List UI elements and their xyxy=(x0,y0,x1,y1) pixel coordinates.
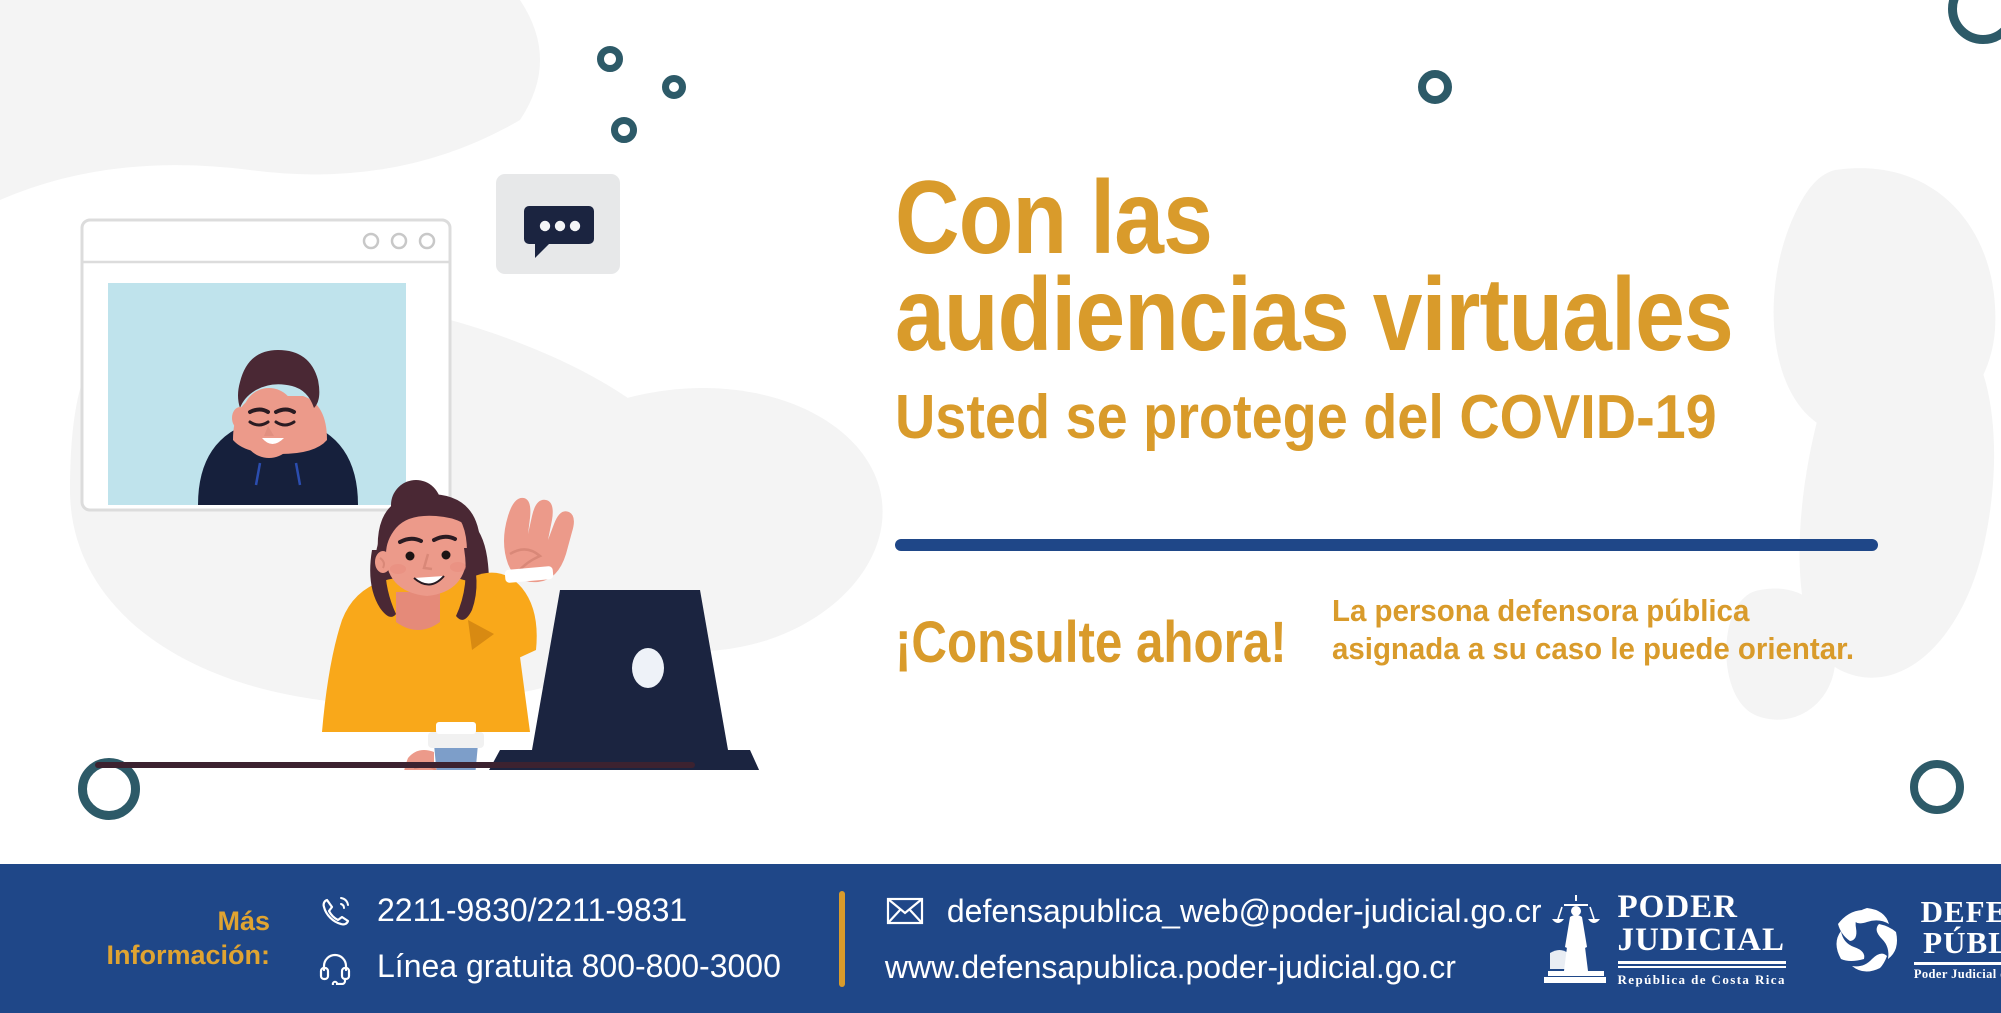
logo-defensa-publica: DEFENSA PÚBLICA Poder Judicial de Costa … xyxy=(1830,896,2001,981)
decorative-ring-small-2 xyxy=(662,75,686,99)
poder-judicial-line-2: JUDICIAL xyxy=(1618,924,1786,957)
phone-icon xyxy=(315,891,355,931)
defensa-publica-emblem-icon xyxy=(1830,902,1904,976)
website-row[interactable]: www.defensapublica.poder-judicial.go.cr xyxy=(885,949,1542,986)
email-row[interactable]: defensapublica_web@poder-judicial.go.cr xyxy=(885,891,1542,931)
contact-phone-group: 2211-9830/2211-9831 Línea gratuita 800-8… xyxy=(315,891,781,987)
decorative-ring-large-bottom-right xyxy=(1910,760,1964,814)
cta-secondary-line-1: La persona defensora pública xyxy=(1332,592,1854,630)
poder-judicial-line-1: PODER xyxy=(1618,891,1786,924)
defensa-publica-text: DEFENSA PÚBLICA Poder Judicial de Costa … xyxy=(1914,896,2001,981)
logo-poder-judicial: PODER JUDICIAL República de Costa Rica xyxy=(1542,891,1786,987)
envelope-icon xyxy=(885,891,925,931)
poster-canvas: Con las audiencias virtuales Usted se pr… xyxy=(0,0,2001,1013)
poder-judicial-rule-2 xyxy=(1618,966,1786,968)
video-call-illustration xyxy=(0,150,860,770)
headset-icon xyxy=(315,947,355,987)
cta-primary-text: ¡Consulte ahora! xyxy=(895,614,1287,672)
person-foreground xyxy=(322,480,574,732)
defensa-publica-line-1: DEFENSA xyxy=(1914,896,2001,927)
defensa-publica-line-2: PÚBLICA xyxy=(1914,927,2001,958)
phone-number: 2211-9830/2211-9831 xyxy=(377,892,687,929)
section-divider xyxy=(895,539,1878,551)
decorative-ring-small-3 xyxy=(611,117,637,143)
poster-copy: Con las audiencias virtuales Usted se pr… xyxy=(895,170,1905,451)
decorative-ring-large-top-right xyxy=(1948,0,2001,44)
footer-divider xyxy=(839,891,845,987)
defensa-publica-rule xyxy=(1914,962,2001,965)
footer-logos: PODER JUDICIAL República de Costa Rica xyxy=(1542,891,2001,987)
headline: Con las audiencias virtuales xyxy=(895,170,1764,363)
video-call-window xyxy=(82,220,450,510)
footer-bar: Más Información: 2211-9830/2211-9831 xyxy=(0,864,2001,1013)
lady-justice-icon xyxy=(1542,891,1608,987)
chat-bubble-card xyxy=(496,174,620,274)
subheadline: Usted se protege del COVID-19 xyxy=(895,385,1804,450)
toll-free-row[interactable]: Línea gratuita 800-800-3000 xyxy=(315,947,781,987)
email-address: defensapublica_web@poder-judicial.go.cr xyxy=(947,893,1542,930)
contact-web-group: defensapublica_web@poder-judicial.go.cr … xyxy=(885,891,1542,986)
more-info-label: Más Información: xyxy=(60,905,270,973)
website-url: www.defensapublica.poder-judicial.go.cr xyxy=(885,949,1456,986)
defensa-publica-subtitle: Poder Judicial de Costa Rica xyxy=(1914,968,2001,981)
poder-judicial-text: PODER JUDICIAL República de Costa Rica xyxy=(1618,891,1786,986)
poder-judicial-rule-1 xyxy=(1618,961,1786,964)
poder-judicial-subtitle: República de Costa Rica xyxy=(1618,973,1786,986)
waving-hand xyxy=(504,498,574,583)
headline-line-2: audiencias virtuales xyxy=(895,267,1764,364)
decorative-ring-small-1 xyxy=(597,46,623,72)
cta-secondary-text: La persona defensora pública asignada a … xyxy=(1332,592,1854,672)
more-info-line-2: Información: xyxy=(60,939,270,973)
cta-secondary-line-2: asignada a su caso le puede orientar. xyxy=(1332,630,1854,668)
more-info-line-1: Más xyxy=(60,905,270,939)
toll-free-number: Línea gratuita 800-800-3000 xyxy=(377,948,781,985)
phone-row[interactable]: 2211-9830/2211-9831 xyxy=(315,891,781,931)
decorative-ring-medium-1 xyxy=(1418,70,1452,104)
call-to-action: ¡Consulte ahora! La persona defensora pú… xyxy=(895,592,1881,672)
